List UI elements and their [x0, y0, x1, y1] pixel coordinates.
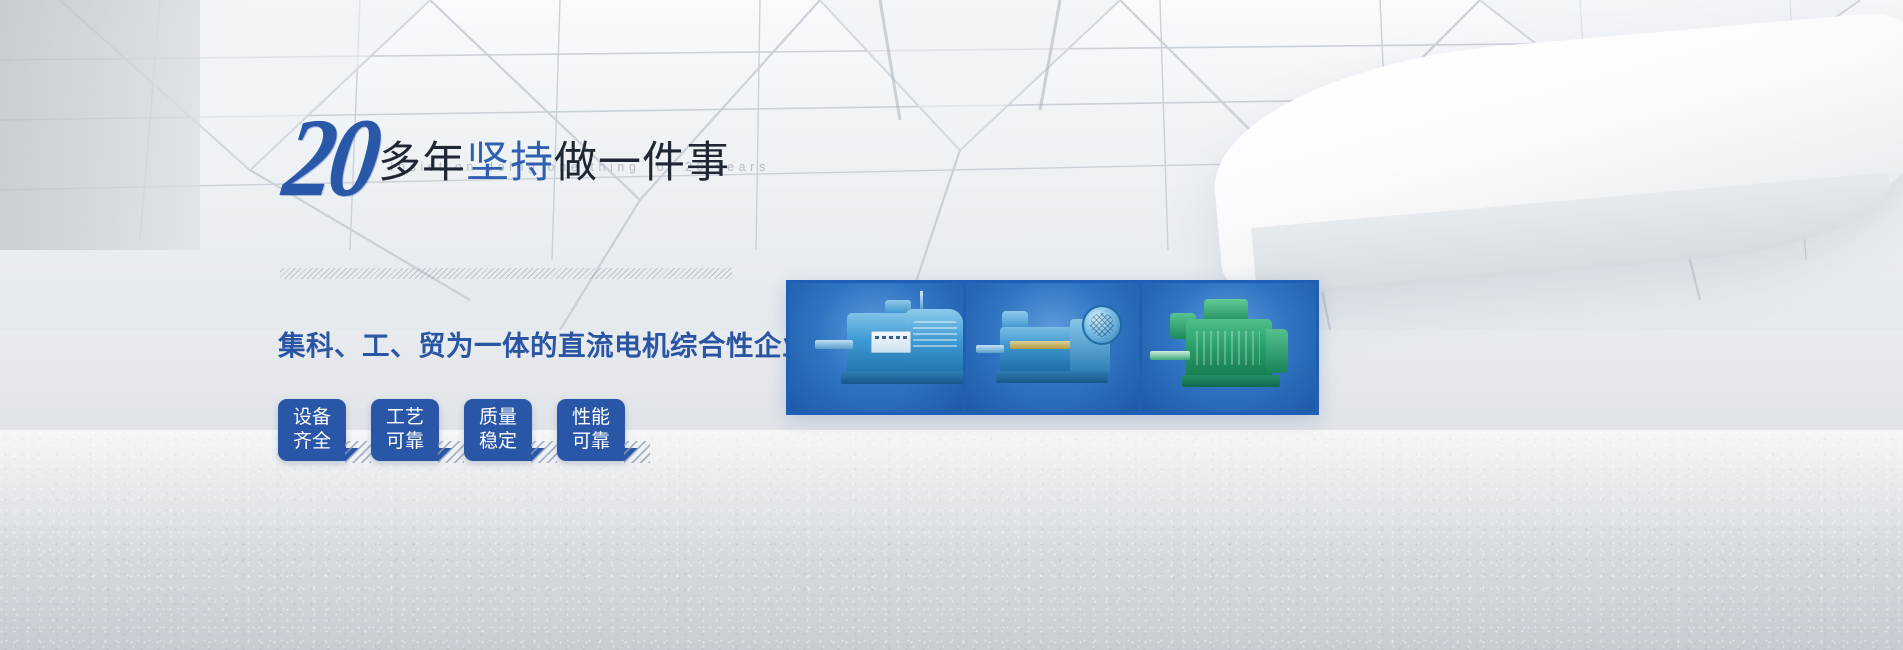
motor-cooling-fins-icon	[1196, 331, 1260, 365]
headline-chinese-emphasis: 坚持	[466, 139, 554, 187]
badge-line2: 可靠	[572, 430, 610, 454]
motor-blower-mesh-icon	[1090, 313, 1114, 337]
hero-subtitle: 集科、工、贸为一体的直流电机综合性企业	[278, 323, 810, 363]
motor-base-icon	[1182, 375, 1280, 387]
left-wall-column	[0, 0, 200, 250]
headline: 20 Insist on doing one thing for 20 year…	[278, 118, 798, 210]
badge-item[interactable]: 设备 齐全	[278, 399, 346, 461]
motor-lift-rod-icon	[920, 291, 923, 311]
motor-cooling-fins-icon	[913, 321, 957, 351]
badge-line1: 性能	[572, 406, 610, 430]
motor-shaft-icon	[815, 340, 853, 349]
headline-number: 20	[278, 102, 382, 214]
badge-line2: 可靠	[386, 430, 424, 454]
hero-banner: 20 Insist on doing one thing for 20 year…	[0, 0, 1903, 650]
motor-shaft-icon	[976, 345, 1004, 353]
badge-hatch-accent	[531, 441, 557, 463]
motor-shaft-icon	[1150, 351, 1190, 360]
badge-line2: 齐全	[293, 430, 331, 454]
motor-end-cover-icon	[1266, 329, 1288, 373]
badge-hatch-accent	[345, 441, 371, 463]
headline-chinese: 多年坚持做一件事	[378, 142, 730, 185]
badge-performance[interactable]: 性能 可靠	[557, 399, 625, 461]
headline-chinese-prefix: 多年	[378, 139, 466, 187]
motor-base-icon	[841, 371, 963, 384]
badge-hatch-accent	[438, 441, 464, 463]
product-gallery	[786, 280, 1319, 415]
hatched-divider	[280, 268, 732, 279]
badge-item[interactable]: 工艺 可靠	[371, 399, 439, 461]
motor-label-band-icon	[1010, 341, 1072, 349]
headline-chinese-suffix: 做一件事	[554, 139, 730, 187]
badge-line1: 质量	[479, 406, 517, 430]
badge-item[interactable]: 性能 可靠	[557, 399, 625, 461]
badge-hatch-accent	[624, 441, 650, 463]
badge-line1: 工艺	[386, 406, 424, 430]
feature-badge-list: 设备 齐全 工艺 可靠 质量 稳定	[278, 399, 625, 461]
badge-line2: 稳定	[479, 430, 517, 454]
motor-nameplate-icon	[871, 331, 911, 353]
product-cell-green-dc-motor[interactable]	[1139, 283, 1316, 412]
product-cell-blue-dc-motor-with-blower[interactable]	[963, 283, 1140, 412]
hero-text-block: 20 Insist on doing one thing for 20 year…	[278, 118, 798, 210]
badge-line1: 设备	[293, 406, 331, 430]
badge-equipment[interactable]: 设备 齐全	[278, 399, 346, 461]
badge-item[interactable]: 质量 稳定	[464, 399, 532, 461]
badge-quality[interactable]: 质量 稳定	[464, 399, 532, 461]
motor-base-icon	[996, 371, 1108, 383]
product-cell-blue-dc-motor-large[interactable]	[789, 283, 963, 412]
badge-craft[interactable]: 工艺 可靠	[371, 399, 439, 461]
